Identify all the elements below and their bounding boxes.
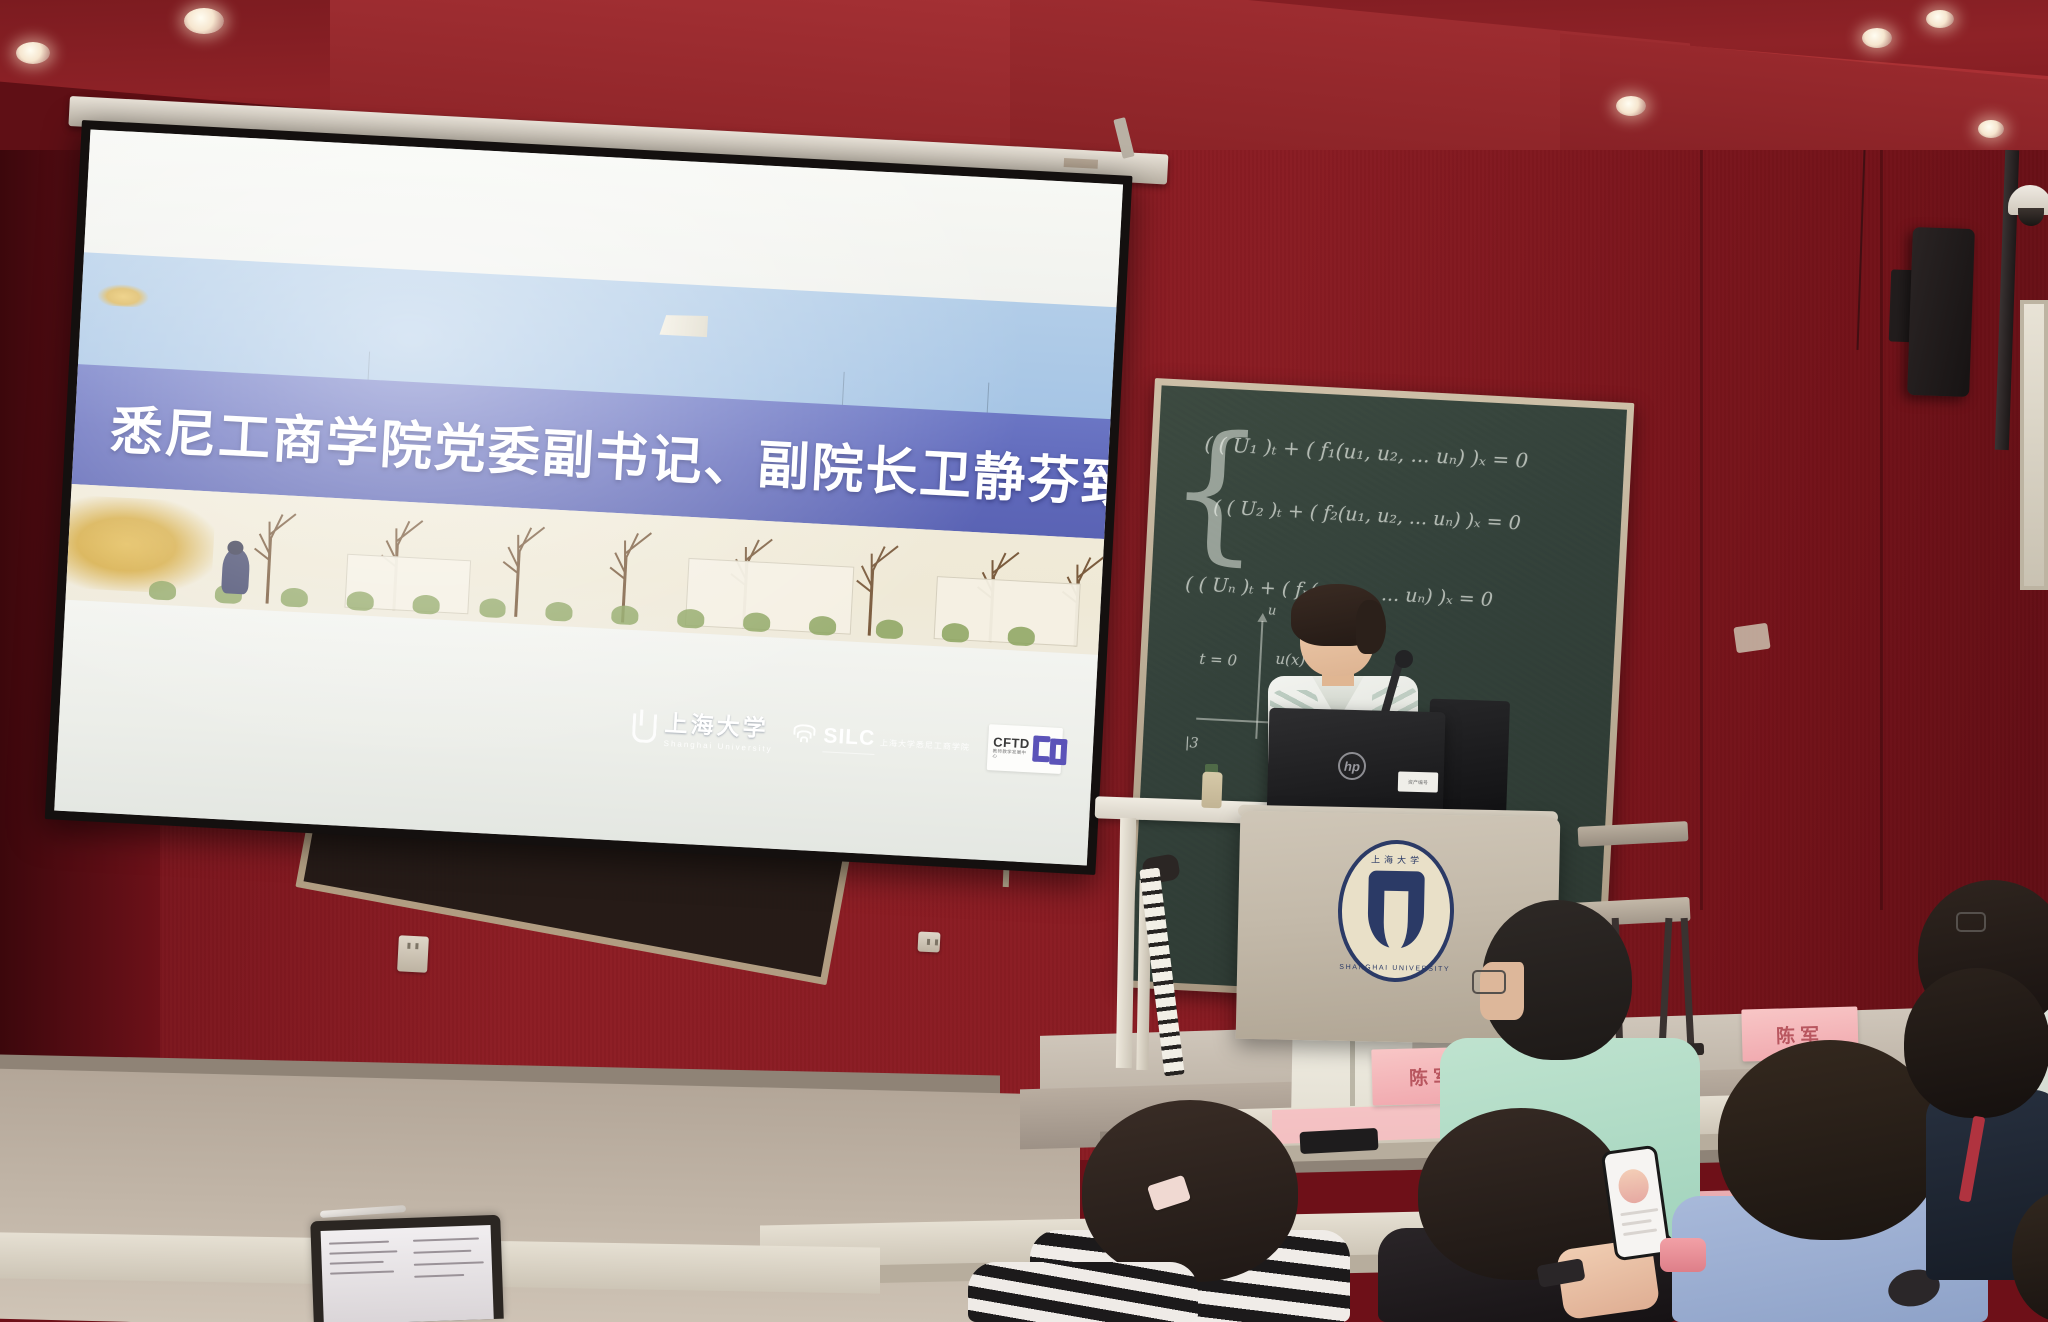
slide-photo-bush-4 [347, 591, 375, 611]
tablet-device[interactable] [310, 1215, 504, 1322]
shanghai-university-cn: 上海大学 [664, 713, 774, 742]
slide-sky-tree [97, 283, 150, 308]
phone-text-line-1 [1620, 1208, 1658, 1216]
slide-photo-bush-14 [1007, 626, 1035, 646]
silc-logo: SILC 上海大学悉尼工商学院 [791, 722, 971, 761]
slide-photo-bush-10 [743, 612, 771, 632]
cftd-logo: CFTD 教师教学发展中心 [987, 725, 1063, 775]
tree-branch [993, 552, 1020, 574]
tree-branch [1077, 557, 1104, 579]
downlight-11 [1862, 28, 1892, 48]
right-window [2020, 300, 2048, 590]
pink-cup [1660, 1238, 1706, 1272]
silc-text: SILC 上海大学悉尼工商学院 [823, 725, 971, 761]
chalk-axis-y-label: u [1268, 603, 1277, 618]
downlight-2 [16, 42, 50, 64]
slide-photo-tree-1 [252, 512, 288, 604]
loudspeaker-icon [1907, 227, 1975, 397]
silc-abbr: SILC [823, 725, 876, 752]
slide-photo-autumn-foliage [66, 495, 215, 595]
water-bottle [1201, 772, 1222, 809]
tablet-screen [321, 1225, 494, 1322]
wall-outlet-left[interactable] [397, 935, 429, 973]
silc-arch-mark-icon [791, 722, 819, 753]
projection-screen: 悉尼工商学院党委副书记、副院长卫静芬致辞 上海大学 S [45, 120, 1133, 875]
cftd-text: CFTD 教师教学发展中心 [992, 736, 1030, 762]
lecture-hall-photo: 悉尼工商学院党委副书记、副院长卫静芬致辞 上海大学 S [0, 0, 2048, 1322]
slide-photo-cyclist [221, 549, 250, 594]
slide-photo-bush-1 [148, 581, 176, 601]
asset-tag: 资产编号 [1398, 771, 1439, 792]
wall-seam-1 [1700, 150, 1703, 910]
silc-rule [823, 752, 875, 756]
chalk-extra: |3 [1185, 735, 1199, 752]
emblem-cn: 上海大学 [1339, 852, 1455, 867]
slide-photo-bush-13 [941, 623, 969, 643]
tree-branch [746, 539, 773, 561]
projection-surface: 悉尼工商学院党委副书记、副院长卫静芬致辞 上海大学 S [54, 129, 1123, 865]
left-fg-torso [968, 1262, 1198, 1322]
right-back-glasses-icon [1956, 912, 1986, 932]
shanghai-university-logo: 上海大学 Shanghai University [625, 709, 774, 755]
microphone-head-icon [1395, 650, 1413, 668]
shanghai-university-u-mark-icon [625, 709, 657, 749]
tree-branch [397, 520, 424, 542]
emblem-en: SHANGHAI UNIVERSITY [1337, 964, 1453, 973]
slide-photo-bush-3 [280, 588, 308, 608]
wall-paint-patch [1733, 623, 1770, 653]
housing-label [1064, 158, 1098, 169]
phone-avatar [1616, 1167, 1650, 1205]
shanghai-university-text: 上海大学 Shanghai University [663, 713, 774, 754]
wall-seam-2 [1880, 150, 1883, 910]
downlight-12 [1926, 10, 1954, 28]
tree-branch [625, 533, 652, 555]
slide-photo-bush-11 [809, 616, 837, 636]
phone-text-line-2 [1622, 1219, 1652, 1226]
smartphone-on-desk[interactable] [1299, 1128, 1378, 1154]
downlight-10 [1616, 96, 1646, 116]
shanghai-university-emblem-icon: 上海大学 SHANGHAI UNIVERSITY [1337, 839, 1456, 983]
slide-photo-bush-8 [611, 605, 639, 625]
phone-text-line-3 [1623, 1228, 1657, 1236]
mint-polo-glasses-icon [1472, 970, 1506, 994]
slide-photo-bush-9 [677, 609, 705, 629]
cftd-abbr: CFTD [993, 736, 1030, 751]
slide-photo-bush-5 [413, 595, 441, 615]
cftd-cn: 教师教学发展中心 [992, 751, 1029, 762]
chalk-axis-y-arrow [1257, 613, 1267, 623]
slide-sky-tower [659, 313, 708, 337]
tree-branch [270, 514, 297, 536]
tree-branch [872, 546, 899, 568]
slide-photo-tree-3 [499, 525, 537, 617]
downlight-9 [1978, 120, 2004, 138]
tree-branch [519, 527, 546, 549]
shanghai-university-en: Shanghai University [663, 740, 772, 754]
silc-cn: 上海大学悉尼工商学院 [880, 738, 970, 754]
wall-outlet-right[interactable] [917, 931, 940, 952]
chalk-sublabel: t = 0 [1199, 650, 1238, 670]
slide-photo-bush-6 [479, 598, 507, 618]
slide-photo-bush-7 [545, 602, 573, 622]
slide-photo-bush-12 [875, 619, 903, 639]
slide-logo-row: 上海大学 Shanghai University SILC 上海大学悉尼工商学院 [623, 674, 1064, 806]
presenter-hair-side [1356, 600, 1386, 654]
cftd-book-glyph-icon [1032, 733, 1058, 768]
striped-hair [1082, 1100, 1298, 1282]
lanyard-hair [1904, 968, 2048, 1118]
downlight-1 [184, 8, 224, 34]
